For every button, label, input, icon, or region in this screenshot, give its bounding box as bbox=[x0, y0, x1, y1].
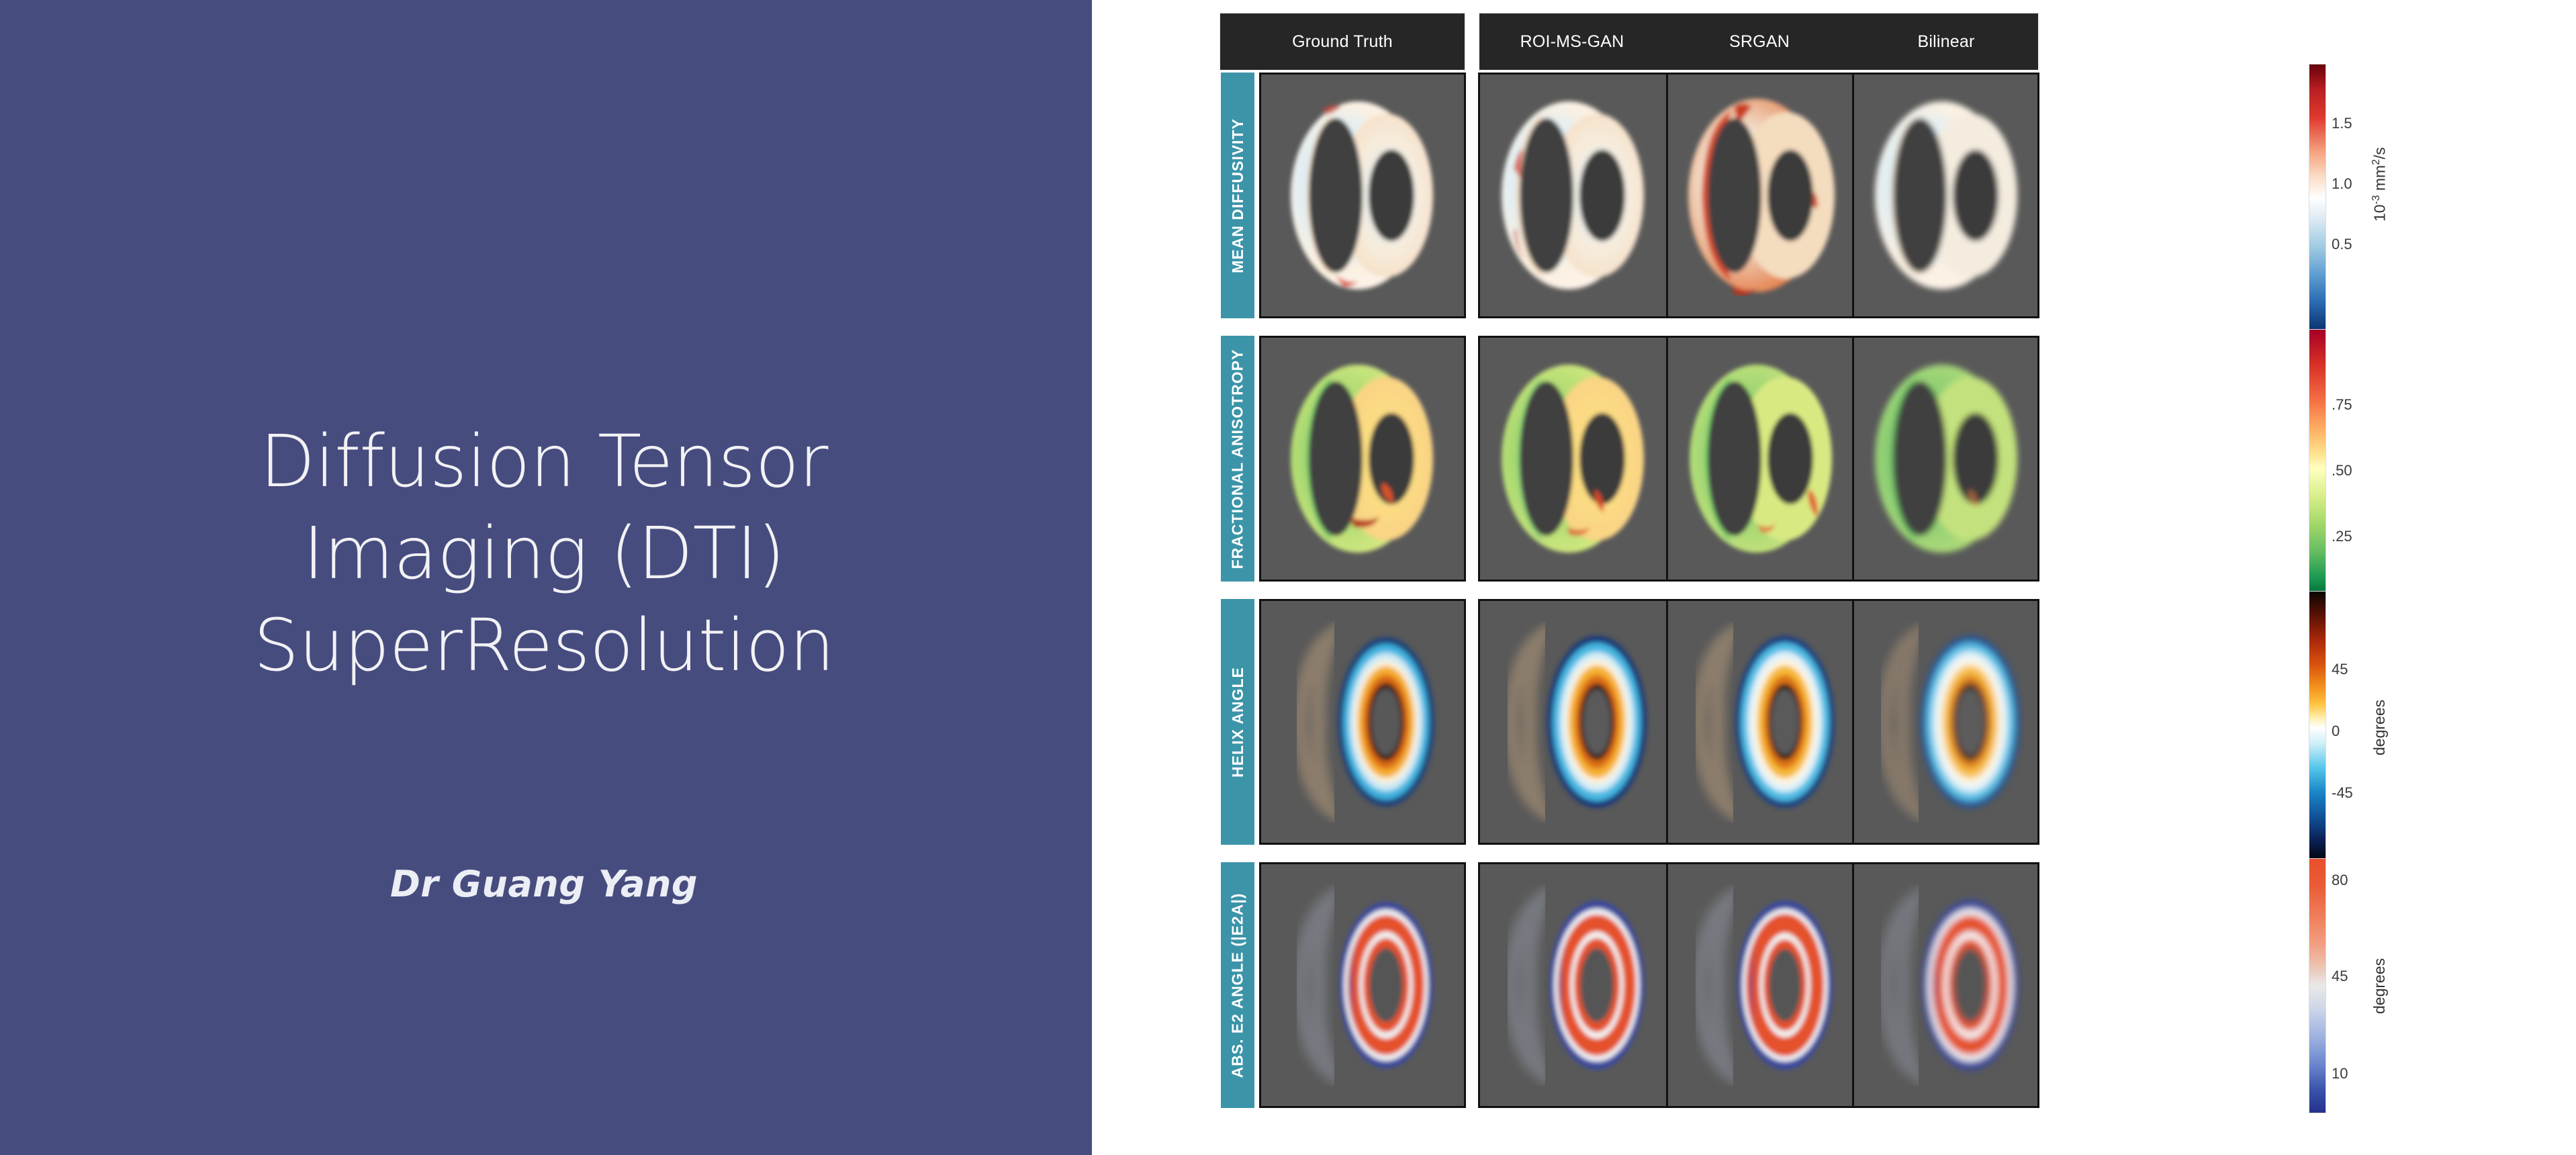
colorbar-fractional-anisotropy bbox=[2309, 329, 2326, 598]
panel-group-ha-methods bbox=[1478, 599, 2039, 845]
panel-fa-roi-ms-gan bbox=[1480, 338, 1666, 580]
panel-e2a-roi-ms-gan bbox=[1480, 864, 1666, 1106]
colorbar-unit-mean-diffusivity: 10-3 mm2/s bbox=[2371, 147, 2389, 222]
panel-md-roi-ms-gan bbox=[1480, 75, 1666, 316]
presenter-name: Dr Guang Yang bbox=[201, 863, 886, 905]
panel-fa-bilinear bbox=[1852, 338, 2039, 580]
fa-map-bilinear bbox=[1870, 358, 2024, 559]
panel-md-srgan bbox=[1666, 75, 1854, 316]
cbar1-tick-3: 0.5 bbox=[2332, 236, 2352, 253]
md-map-roi-ms-gan bbox=[1496, 95, 1651, 296]
panel-ha-srgan bbox=[1666, 601, 1854, 843]
page-title: Diffusion Tensor Imaging (DTI) SuperReso… bbox=[201, 416, 886, 692]
column-header-roi-ms-gan: ROI-MS-GAN bbox=[1478, 12, 1666, 71]
title-slide-panel: Diffusion Tensor Imaging (DTI) SuperReso… bbox=[0, 0, 1092, 1155]
row-label-helix-angle-text: HELIX ANGLE bbox=[1229, 667, 1247, 778]
cbar2-tick-2: .50 bbox=[2332, 462, 2352, 479]
panel-e2a-bilinear bbox=[1852, 864, 2039, 1106]
cbar3-tick-1: 45 bbox=[2332, 661, 2348, 678]
fa-map-roi-ms-gan bbox=[1496, 358, 1651, 559]
ha-map-roi-ms-gan bbox=[1496, 621, 1651, 823]
panel-e2a-ground-truth bbox=[1261, 864, 1464, 1106]
cbar4-tick-3: 10 bbox=[2332, 1065, 2348, 1082]
md-map-ground-truth bbox=[1285, 95, 1440, 296]
md-map-srgan bbox=[1684, 95, 1839, 296]
panel-group-md-groundtruth bbox=[1259, 73, 1466, 318]
colorbar-unit-abs-e2-angle: degrees bbox=[2371, 958, 2389, 1014]
md-map-bilinear bbox=[1870, 95, 2024, 296]
row-label-fractional-anisotropy-text: FRACTIONAL ANISOTROPY bbox=[1229, 349, 1247, 569]
colorbar-helix-angle bbox=[2309, 591, 2326, 860]
panel-group-e2a-groundtruth bbox=[1259, 862, 1466, 1108]
colorbar-mean-diffusivity bbox=[2309, 64, 2326, 332]
e2a-map-bilinear bbox=[1870, 884, 2024, 1086]
panel-fa-srgan bbox=[1666, 338, 1854, 580]
ha-map-srgan bbox=[1684, 621, 1839, 823]
cbar2-tick-1: .75 bbox=[2332, 396, 2352, 414]
panel-ha-ground-truth bbox=[1261, 601, 1464, 843]
panel-ha-bilinear bbox=[1852, 601, 2039, 843]
cbar4-tick-2: 45 bbox=[2332, 968, 2348, 985]
panel-ha-roi-ms-gan bbox=[1480, 601, 1666, 843]
cbar4-tick-1: 80 bbox=[2332, 872, 2348, 889]
row-label-mean-diffusivity: MEAN DIFFUSIVITY bbox=[1221, 73, 1254, 318]
panel-group-fa-methods bbox=[1478, 336, 2039, 582]
slide-canvas: Diffusion Tensor Imaging (DTI) SuperReso… bbox=[0, 0, 2576, 1155]
panel-group-fa-groundtruth bbox=[1259, 336, 1466, 582]
cbar1-tick-1: 1.5 bbox=[2332, 115, 2352, 132]
panel-group-ha-groundtruth bbox=[1259, 599, 1466, 845]
row-label-mean-diffusivity-text: MEAN DIFFUSIVITY bbox=[1229, 118, 1247, 273]
column-header-ground-truth: Ground Truth bbox=[1219, 12, 1466, 71]
row-label-abs-e2-angle: ABS. E2 ANGLE (|E2A|) bbox=[1221, 862, 1254, 1108]
fa-map-ground-truth bbox=[1285, 358, 1440, 559]
panel-md-bilinear bbox=[1852, 75, 2039, 316]
row-label-helix-angle: HELIX ANGLE bbox=[1221, 599, 1254, 845]
colorbar-abs-e2-angle bbox=[2309, 858, 2326, 1113]
panel-md-ground-truth bbox=[1261, 75, 1464, 316]
ha-map-bilinear bbox=[1870, 621, 2024, 823]
row-label-abs-e2-angle-text: ABS. E2 ANGLE (|E2A|) bbox=[1229, 892, 1247, 1078]
fa-map-srgan bbox=[1684, 358, 1839, 559]
e2a-map-srgan bbox=[1684, 884, 1839, 1086]
row-label-fractional-anisotropy: FRACTIONAL ANISOTROPY bbox=[1221, 336, 1254, 582]
e2a-map-ground-truth bbox=[1285, 884, 1440, 1086]
panel-fa-ground-truth bbox=[1261, 338, 1464, 580]
panel-e2a-srgan bbox=[1666, 864, 1854, 1106]
colorbar-unit-helix-angle: degrees bbox=[2371, 700, 2389, 755]
cbar2-tick-3: .25 bbox=[2332, 528, 2352, 545]
cbar1-tick-2: 1.0 bbox=[2332, 175, 2352, 193]
column-header-srgan: SRGAN bbox=[1666, 12, 1853, 71]
panel-group-e2a-methods bbox=[1478, 862, 2039, 1108]
dti-comparison-figure: Ground Truth ROI-MS-GAN SRGAN Bilinear M… bbox=[1101, 0, 2576, 1155]
ha-map-ground-truth bbox=[1285, 621, 1440, 823]
cbar3-tick-2: 0 bbox=[2332, 723, 2340, 740]
cbar3-tick-3: -45 bbox=[2332, 784, 2353, 802]
column-header-bilinear: Bilinear bbox=[1853, 12, 2039, 71]
panel-group-md-methods bbox=[1478, 73, 2039, 318]
e2a-map-roi-ms-gan bbox=[1496, 884, 1651, 1086]
